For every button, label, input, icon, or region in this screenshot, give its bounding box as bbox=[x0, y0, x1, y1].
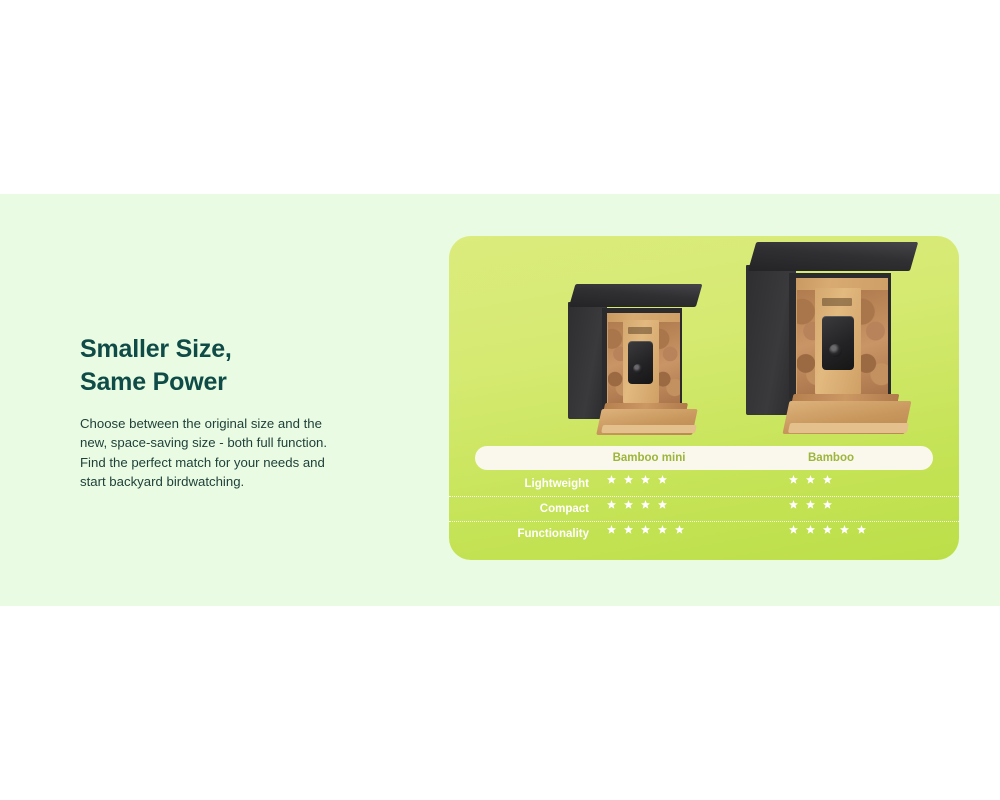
page-title: Smaller Size, Same Power bbox=[80, 333, 380, 398]
column-header-bamboo-mini: Bamboo mini bbox=[589, 446, 709, 470]
star-icon bbox=[624, 475, 633, 484]
product-image-bamboo bbox=[746, 242, 911, 434]
star-icon bbox=[658, 475, 667, 484]
star-icon bbox=[624, 500, 633, 509]
feeder-camera-panel-icon bbox=[815, 288, 861, 394]
star-icon bbox=[607, 500, 616, 509]
row-label-lightweight: Lightweight bbox=[449, 472, 597, 496]
comparison-header-pill: Bamboo mini Bamboo bbox=[475, 446, 933, 470]
body-text: Choose between the original size and the… bbox=[80, 414, 348, 492]
headline-line-1: Smaller Size, bbox=[80, 333, 380, 366]
star-icon bbox=[840, 525, 849, 534]
table-row: Compact bbox=[449, 496, 959, 521]
feeder-camera-panel-icon bbox=[623, 320, 659, 403]
camera-lens-icon bbox=[829, 344, 842, 357]
rating-compact-bamboo-mini bbox=[607, 497, 675, 521]
rating-lightweight-bamboo bbox=[789, 472, 840, 496]
table-row: Lightweight bbox=[449, 472, 959, 496]
camera-module-icon bbox=[822, 316, 854, 371]
product-card: Bamboo mini Bamboo Lightweight Compact bbox=[449, 236, 959, 560]
headline-line-2: Same Power bbox=[80, 366, 380, 399]
rating-lightweight-bamboo-mini bbox=[607, 472, 675, 496]
feeder-roof-icon bbox=[569, 284, 703, 307]
feeder-tray-lip-icon bbox=[788, 423, 909, 433]
brand-logo-icon bbox=[628, 327, 652, 334]
star-icon bbox=[789, 525, 798, 534]
star-icon bbox=[607, 525, 616, 534]
camera-module-icon bbox=[628, 341, 653, 384]
star-icon bbox=[641, 525, 650, 534]
row-label-functionality: Functionality bbox=[449, 522, 597, 546]
star-icon bbox=[857, 525, 866, 534]
star-icon bbox=[607, 475, 616, 484]
rating-functionality-bamboo-mini bbox=[607, 522, 692, 546]
product-image-bamboo-mini bbox=[568, 284, 698, 434]
comparison-rows: Lightweight Compact Functionality bbox=[449, 472, 959, 546]
star-icon bbox=[806, 475, 815, 484]
star-icon bbox=[806, 500, 815, 509]
promo-section: Smaller Size, Same Power Choose between … bbox=[0, 194, 1000, 606]
star-icon bbox=[789, 500, 798, 509]
page-root: Smaller Size, Same Power Choose between … bbox=[0, 0, 1000, 800]
star-icon bbox=[675, 525, 684, 534]
star-icon bbox=[823, 500, 832, 509]
star-icon bbox=[641, 500, 650, 509]
star-icon bbox=[789, 475, 798, 484]
star-icon bbox=[658, 500, 667, 509]
brand-logo-icon bbox=[822, 298, 852, 306]
star-icon bbox=[823, 525, 832, 534]
star-icon bbox=[658, 525, 667, 534]
product-images bbox=[449, 236, 959, 442]
rating-compact-bamboo bbox=[789, 497, 840, 521]
comparison-table: Bamboo mini Bamboo Lightweight Compact bbox=[449, 442, 959, 560]
rating-functionality-bamboo bbox=[789, 522, 874, 546]
star-icon bbox=[823, 475, 832, 484]
feeder-tray-lip-icon bbox=[601, 425, 696, 433]
star-icon bbox=[624, 525, 633, 534]
row-label-compact: Compact bbox=[449, 497, 597, 521]
star-icon bbox=[806, 525, 815, 534]
column-header-bamboo: Bamboo bbox=[771, 446, 891, 470]
copy-column: Smaller Size, Same Power Choose between … bbox=[80, 333, 380, 492]
table-row: Functionality bbox=[449, 521, 959, 546]
feeder-roof-icon bbox=[748, 242, 918, 271]
star-icon bbox=[641, 475, 650, 484]
camera-lens-icon bbox=[633, 364, 643, 374]
